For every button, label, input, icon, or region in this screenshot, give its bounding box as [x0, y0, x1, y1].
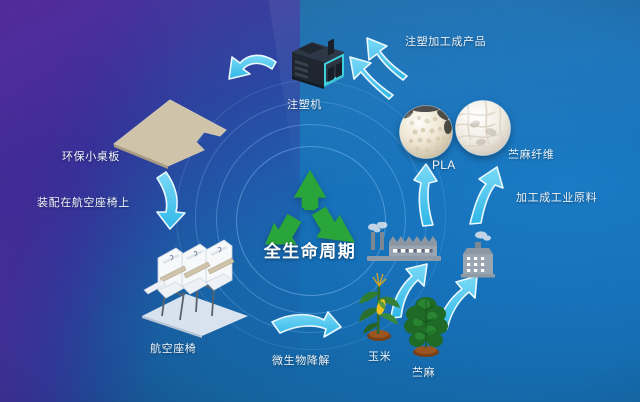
label-aviation-seat: 航空座椅: [150, 340, 196, 356]
ramie-fiber-sphere: [455, 100, 511, 156]
label-microbial-degrade: 微生物降解: [272, 352, 330, 368]
tray-table-illustration: [108, 92, 228, 170]
label-pla: PLA: [432, 158, 456, 172]
label-injection-to-product: 注塑加工成产品: [405, 33, 486, 49]
label-injection-machine: 注塑机: [287, 96, 322, 112]
injection-molding-machine-illustration: [284, 38, 350, 92]
pla-pellets-sphere: [399, 105, 453, 159]
factory-illustration-1: [365, 222, 443, 266]
center-title: 全生命周期: [244, 237, 376, 262]
label-ramie-plant: 苎麻: [412, 364, 435, 380]
aircraft-seats-illustration: [140, 232, 250, 338]
infographic-canvas: 全生命周期: [0, 0, 640, 402]
label-to-industrial-raw: 加工成工业原料: [516, 189, 597, 205]
label-tray-table: 环保小桌板: [62, 148, 120, 164]
ramie-plant-illustration: [400, 286, 452, 358]
factory-illustration-2: [455, 230, 501, 278]
corn-plant-illustration: [357, 268, 401, 342]
label-ramie-fiber: 苎麻纤维: [508, 146, 554, 162]
label-assemble-on-seat: 装配在航空座椅上: [37, 194, 130, 210]
label-corn: 玉米: [368, 348, 391, 364]
